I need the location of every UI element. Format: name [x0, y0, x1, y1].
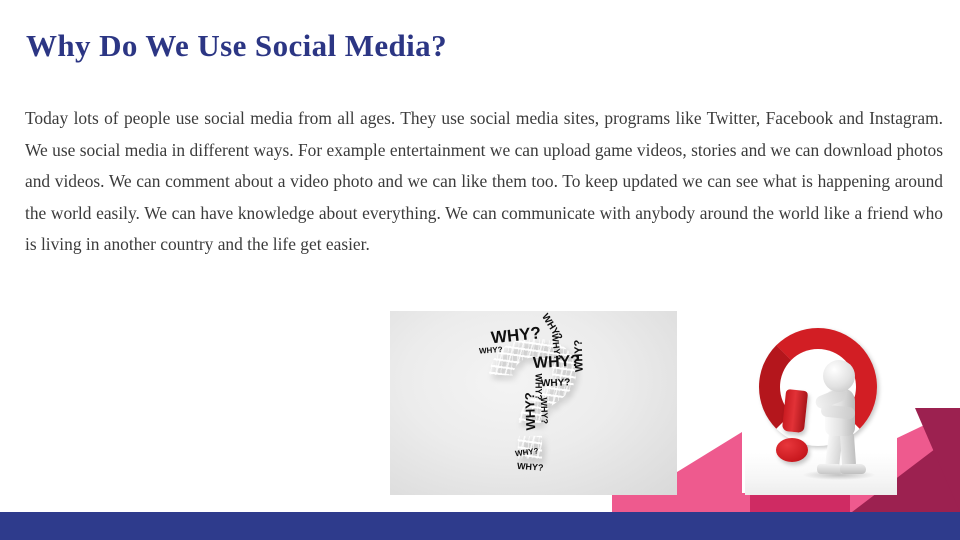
red-question-mark-stem-icon — [782, 389, 808, 433]
figure-foot — [840, 464, 866, 474]
crimson-band-decoration — [750, 493, 850, 512]
pink-band-decoration — [612, 493, 960, 512]
figure-head — [823, 360, 855, 392]
question-mark-glyph-icon: ? — [481, 314, 586, 486]
blue-footer-bar — [0, 512, 960, 540]
page-title: Why Do We Use Social Media? — [26, 28, 926, 65]
slide-canvas: Why Do We Use Social Media? Today lots o… — [0, 0, 960, 540]
picture-typographic-question-mark: ? WHY? WHY? WHY? WHY? WHY? WHY? WHY? WHY… — [390, 311, 677, 495]
red-question-mark-hook-icon — [759, 328, 877, 446]
magenta-triangle-decoration — [915, 408, 960, 512]
red-question-mark-dot-icon — [776, 438, 808, 462]
body-paragraph: Today lots of people use social media fr… — [25, 103, 943, 261]
picture-thinking-person-with-question-mark — [745, 318, 897, 495]
